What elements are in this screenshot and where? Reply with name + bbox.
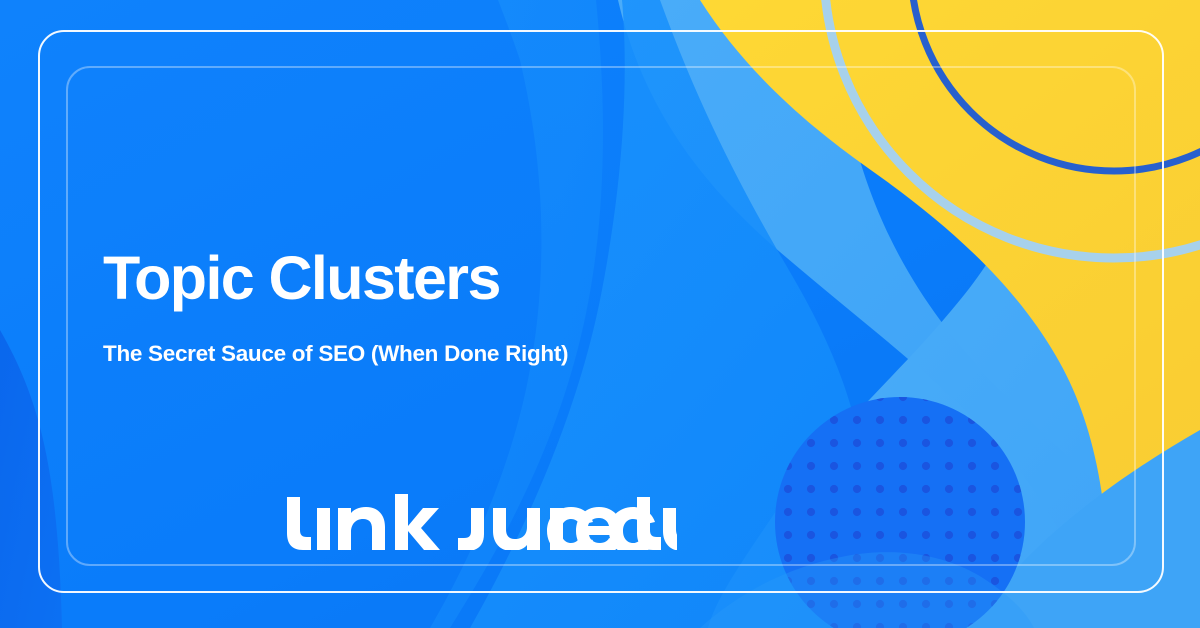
brand-logo-wordmark-icon (285, 494, 677, 550)
logo-glyph-u (493, 508, 540, 550)
page-title: Topic Clusters (103, 248, 743, 309)
logo-glyph-n (338, 507, 385, 550)
logo-glyph-j (458, 508, 484, 550)
logo-glyph-k (395, 494, 440, 550)
brand-logo[interactable] (285, 494, 677, 550)
page-subtitle: The Secret Sauce of SEO (When Done Right… (103, 309, 743, 367)
logo-glyph-i (317, 508, 330, 550)
banner-content: Topic Clusters The Secret Sauce of SEO (… (103, 248, 743, 367)
social-share-banner: Topic Clusters The Secret Sauce of SEO (… (0, 0, 1200, 628)
logo-glyph-l2 (637, 497, 661, 550)
logo-glyph-l (287, 497, 311, 550)
logo-glyph-u2 (663, 508, 677, 550)
